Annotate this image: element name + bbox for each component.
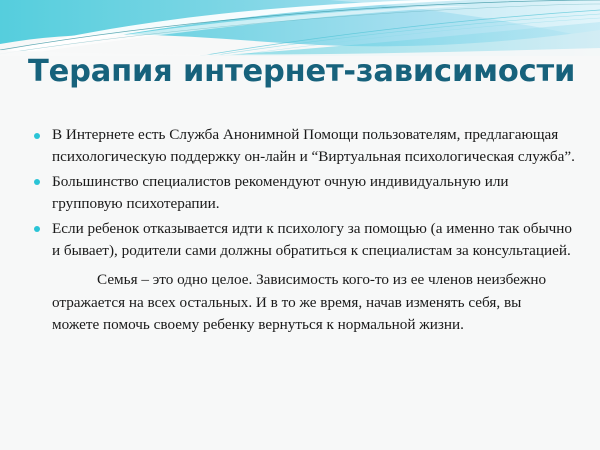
list-item-text: Большинство специалистов рекомендуют очн… <box>52 171 576 216</box>
decorative-wave-banner <box>0 0 600 56</box>
list-item: В Интернете есть Служба Анонимной Помощи… <box>0 124 600 169</box>
bullet-dot-icon <box>34 133 40 139</box>
bullet-dot-icon <box>34 226 40 232</box>
list-item-text: Если ребенок отказывается идти к психоло… <box>52 218 576 263</box>
list-item-text: В Интернете есть Служба Анонимной Помощи… <box>52 124 576 169</box>
slide-content: В Интернете есть Служба Анонимной Помощи… <box>0 124 600 337</box>
presentation-slide: Терапия интернет-зависимости В Интернете… <box>0 0 600 450</box>
list-item: Большинство специалистов рекомендуют очн… <box>0 171 600 216</box>
list-item: Если ребенок отказывается идти к психоло… <box>0 218 600 263</box>
bullet-list: В Интернете есть Служба Анонимной Помощи… <box>0 124 600 262</box>
wave-graphic <box>0 0 600 56</box>
closing-paragraph: Семья – это одно целое. Зависимость кого… <box>0 269 600 336</box>
bullet-dot-icon <box>34 179 40 185</box>
title-container: Терапия интернет-зависимости <box>0 52 600 100</box>
page-title: Терапия интернет-зависимости <box>0 52 600 92</box>
